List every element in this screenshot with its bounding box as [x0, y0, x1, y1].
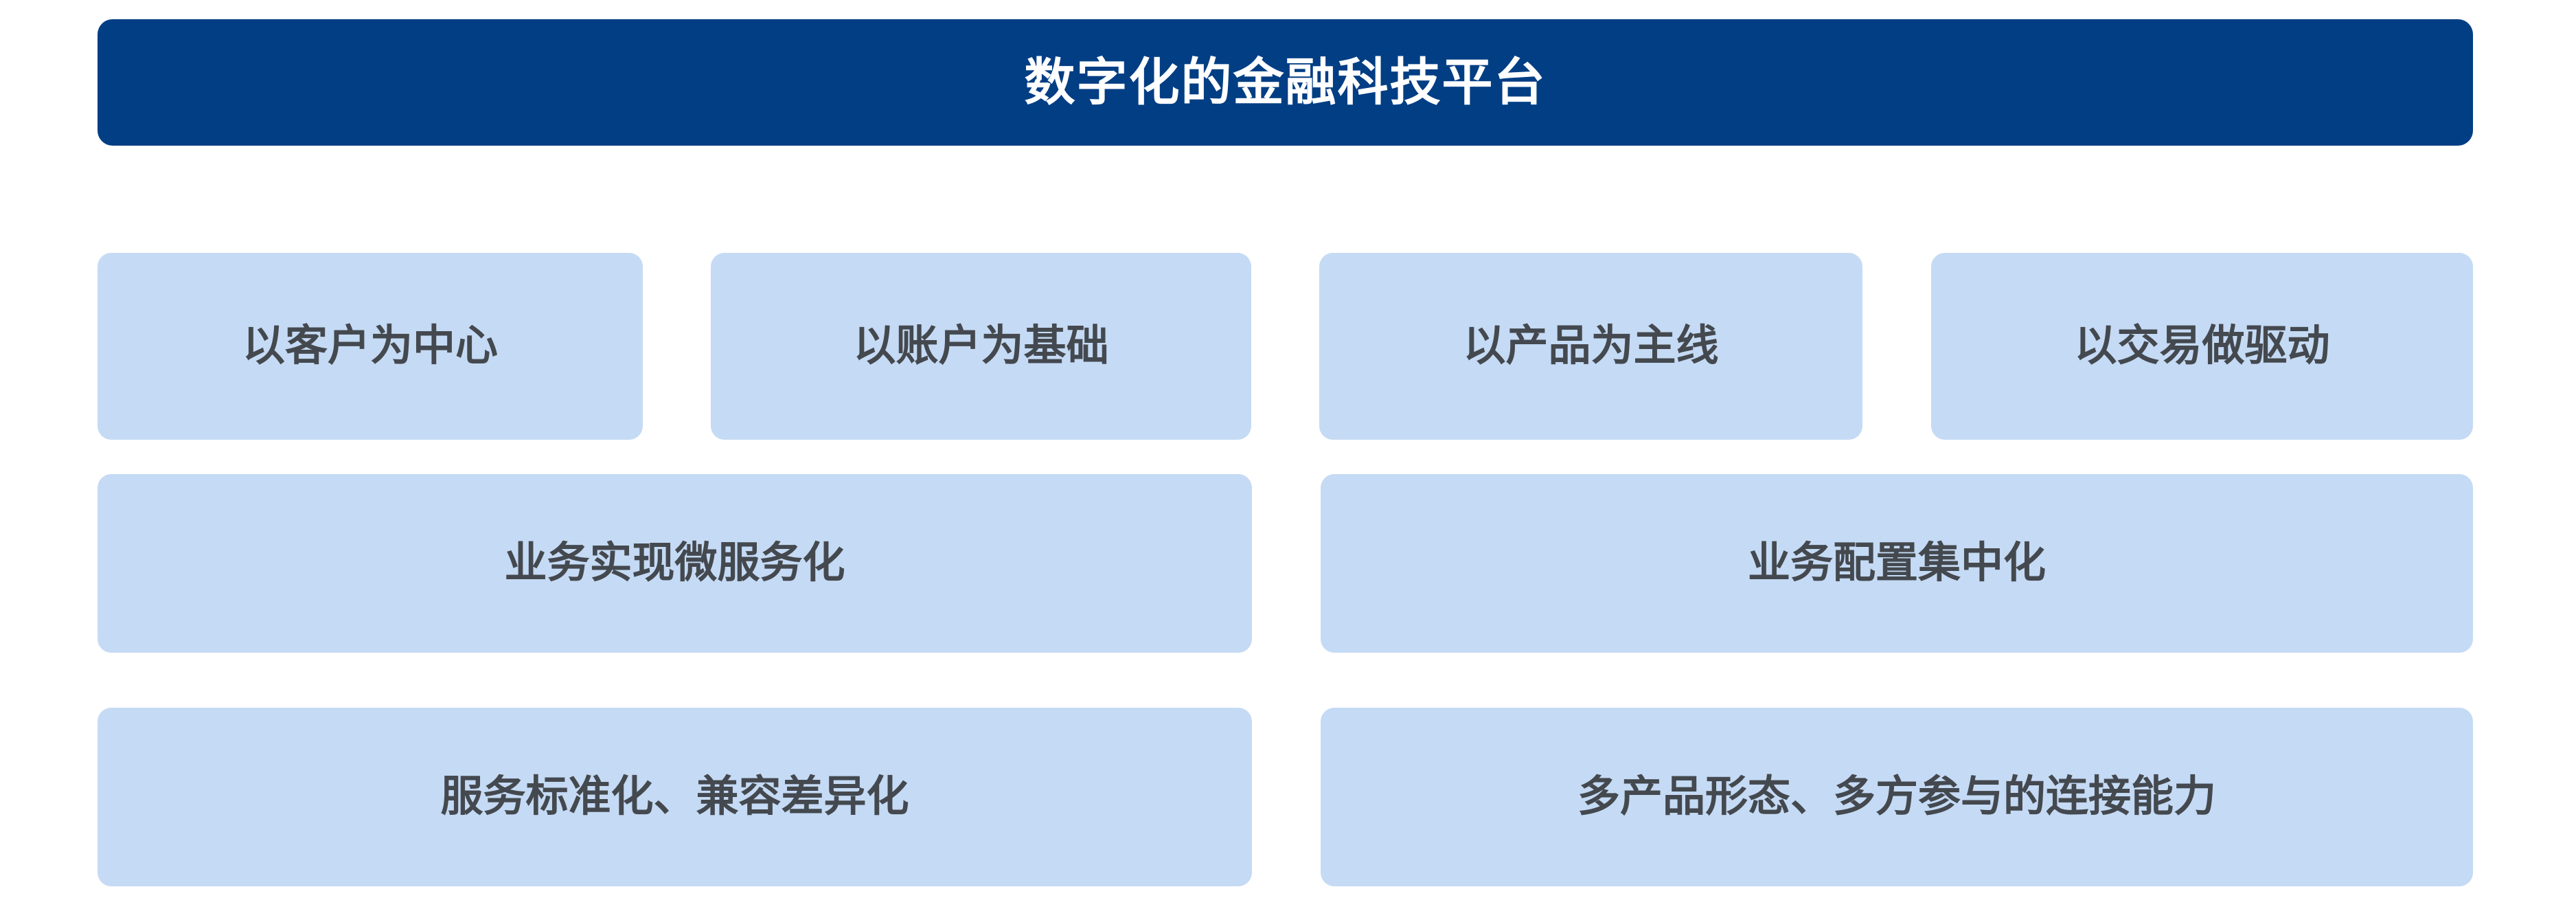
principle-card-customer-center[interactable]: 以客户为中心: [98, 253, 643, 440]
platform-title-banner: 数字化的金融科技平台: [98, 19, 2473, 146]
service-card-label: 多产品形态、多方参与的连接能力: [1577, 776, 2216, 818]
principle-card-label: 以交易做驱动: [2074, 325, 2329, 368]
principle-card-product-line[interactable]: 以产品为主线: [1319, 253, 1862, 440]
service-card-label: 服务标准化、兼容差异化: [440, 776, 909, 818]
platform-architecture-slide: 数字化的金融科技平台 以客户为中心 以账户为基础 以产品为主线 以交易做驱动 业…: [0, 0, 2576, 920]
principle-card-label: 以产品为主线: [1463, 325, 1718, 368]
principle-card-account-base[interactable]: 以账户为基础: [711, 253, 1251, 440]
capability-card-centralized-config[interactable]: 业务配置集中化: [1321, 474, 2473, 653]
service-card-standardization[interactable]: 服务标准化、兼容差异化: [98, 708, 1252, 886]
principle-card-label: 以客户为中心: [242, 325, 498, 368]
capability-card-label: 业务配置集中化: [1748, 542, 2046, 585]
platform-title-text: 数字化的金融科技平台: [1025, 57, 1547, 108]
principle-card-label: 以账户为基础: [853, 325, 1108, 368]
capability-card-label: 业务实现微服务化: [504, 542, 845, 585]
capability-card-microservices[interactable]: 业务实现微服务化: [98, 474, 1252, 653]
service-card-connectivity[interactable]: 多产品形态、多方参与的连接能力: [1321, 708, 2473, 886]
principle-card-transaction-driven[interactable]: 以交易做驱动: [1931, 253, 2473, 440]
